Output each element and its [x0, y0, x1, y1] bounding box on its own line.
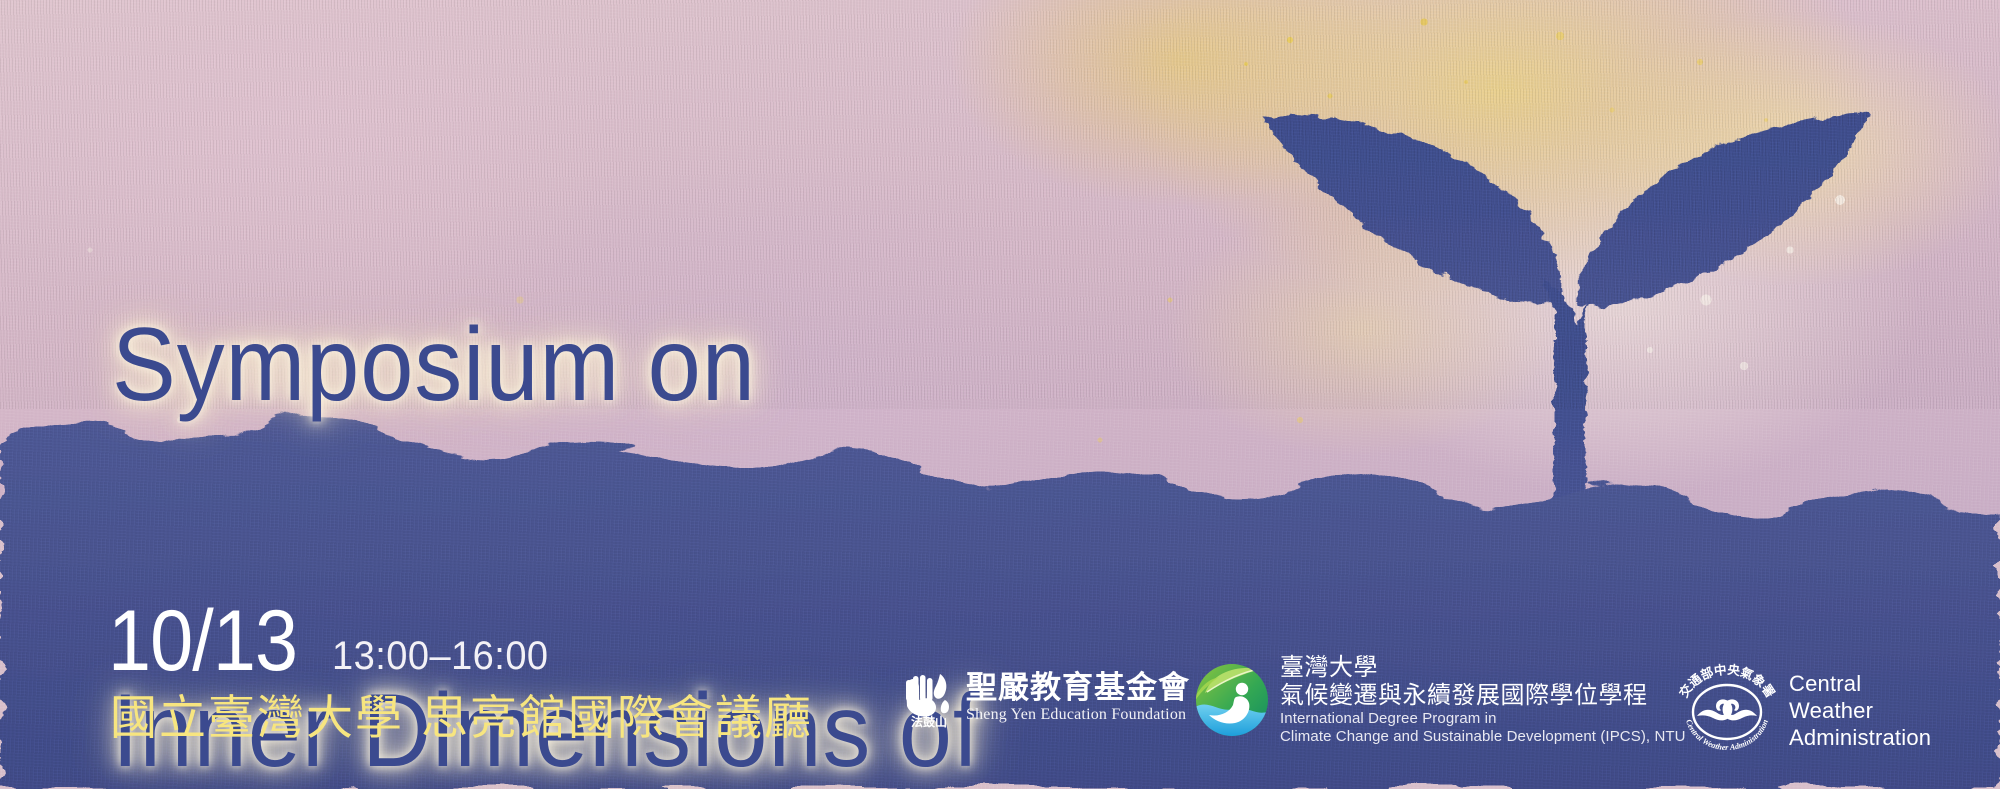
ipcs-globe-leaf-figure-icon — [1195, 663, 1269, 737]
cwa-name-en-1: Central — [1789, 670, 1931, 697]
event-date: 10/13 — [108, 598, 297, 684]
ipcs-name-cn-1: 臺灣大學 — [1280, 654, 1686, 681]
logo-sheng-yen[interactable]: 法鼓山 聖嚴教育基金會 Sheng Yen Education Foundati… — [900, 666, 1190, 728]
sponsor-logos: 法鼓山 聖嚴教育基金會 Sheng Yen Education Foundati… — [900, 652, 1990, 764]
logo-ipcs-ntu[interactable]: 臺灣大學 氣候變遷與永續發展國際學位學程 International Degre… — [1195, 654, 1686, 746]
cwa-name-en-3: Administration — [1789, 724, 1931, 751]
sheng-yen-name-cn: 聖嚴教育基金會 — [966, 671, 1190, 705]
ipcs-name-en-2: Climate Change and Sustainable Developme… — [1280, 728, 1686, 746]
title-line-1: Symposium on — [112, 304, 1124, 426]
cwa-name-en-2: Weather — [1789, 697, 1931, 724]
event-venue: 國立臺灣大學 思亮館國際會議廳 — [110, 692, 813, 746]
logo-cwa[interactable]: 交通部中央氣象署 Central Weather Administration … — [1675, 658, 1931, 762]
ipcs-name-cn-2: 氣候變遷與永續發展國際學位學程 — [1280, 681, 1686, 710]
dharma-drum-hand-icon: 法鼓山 — [900, 666, 958, 728]
event-poster: Symposium on Inner Dimensions of Climate… — [0, 0, 2000, 789]
cwa-seal-label-cn: 交通部中央氣象署 — [1676, 662, 1778, 701]
event-datetime: 10/13 13:00–16:00 — [108, 598, 560, 684]
cwa-seal-icon: 交通部中央氣象署 Central Weather Administration — [1675, 658, 1779, 762]
sheng-yen-name-en: Sheng Yen Education Foundation — [966, 705, 1190, 724]
ipcs-name-en-1: International Degree Program in — [1280, 710, 1686, 728]
event-time: 13:00–16:00 — [332, 636, 549, 676]
dharma-drum-label: 法鼓山 — [911, 714, 947, 728]
